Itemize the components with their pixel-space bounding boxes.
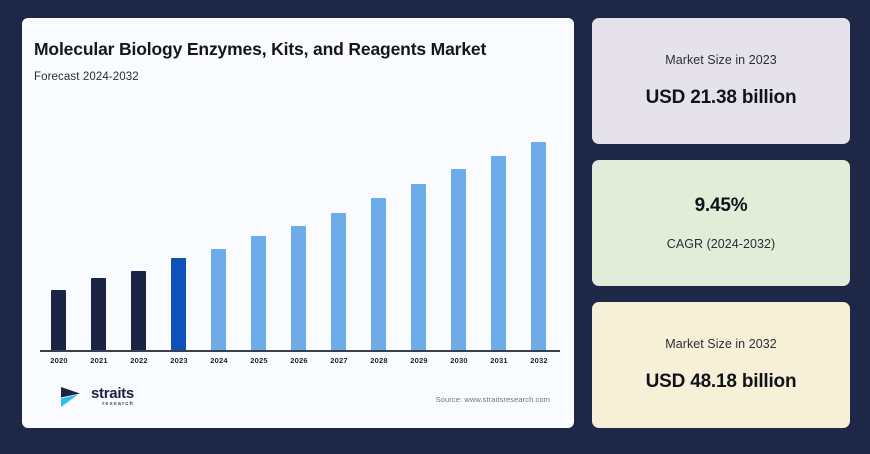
source-note: Source: www.straitsresearch.com [436, 395, 550, 404]
bar-2031[interactable] [491, 156, 506, 349]
bar-slot-2026 [280, 124, 318, 350]
stat-cards-column: Market Size in 2023USD 21.38 billion9.45… [592, 18, 850, 428]
x-axis-line [40, 350, 560, 353]
stat-label-market-size-2032: Market Size in 2032 [665, 337, 776, 351]
bar-2025[interactable] [251, 236, 266, 349]
x-tick-2032: 2032 [520, 356, 558, 365]
stat-value-market-size-2023: USD 21.38 billion [646, 87, 797, 109]
page-title: Molecular Biology Enzymes, Kits, and Rea… [34, 38, 534, 60]
bar-chart-plot [40, 126, 560, 352]
x-tick-2025: 2025 [240, 356, 278, 365]
x-tick-2023: 2023 [160, 356, 198, 365]
logo-tagline: research [91, 402, 134, 408]
x-tick-2026: 2026 [280, 356, 318, 365]
x-tick-2028: 2028 [360, 356, 398, 365]
bar-2024[interactable] [211, 249, 226, 350]
stat-label-market-size-2023: Market Size in 2023 [665, 53, 776, 67]
x-tick-2029: 2029 [400, 356, 438, 365]
bar-slot-2031 [480, 124, 518, 350]
stat-card-market-size-2032: Market Size in 2032USD 48.18 billion [592, 302, 850, 428]
stat-value-cagr: 9.45% [695, 195, 748, 217]
bar-2023[interactable] [171, 258, 186, 350]
bar-2027[interactable] [331, 213, 346, 350]
bar-2030[interactable] [451, 169, 466, 350]
chart-header: Molecular Biology Enzymes, Kits, and Rea… [34, 38, 534, 83]
bar-2026[interactable] [291, 226, 306, 349]
bar-slot-2025 [240, 124, 278, 350]
x-tick-2020: 2020 [40, 356, 78, 365]
bar-2022[interactable] [131, 271, 146, 350]
chart-subtitle: Forecast 2024-2032 [34, 71, 534, 83]
x-tick-2027: 2027 [320, 356, 358, 365]
bar-slot-2029 [400, 124, 438, 350]
bar-slot-2021 [80, 124, 118, 350]
bar-2029[interactable] [411, 184, 426, 350]
infographic-root: Molecular Biology Enzymes, Kits, and Rea… [0, 0, 870, 454]
straits-arrow-icon [60, 384, 86, 410]
bar-slot-2030 [440, 124, 478, 350]
bar-slot-2022 [120, 124, 158, 350]
bar-2020[interactable] [51, 290, 66, 350]
bar-slot-2020 [40, 124, 78, 350]
bar-2032[interactable] [531, 142, 546, 349]
logo-wordmark: straits research [91, 386, 134, 408]
stat-card-market-size-2023: Market Size in 2023USD 21.38 billion [592, 18, 850, 144]
bar-2028[interactable] [371, 198, 386, 349]
bar-slot-2023 [160, 124, 198, 350]
x-tick-2030: 2030 [440, 356, 478, 365]
stat-value-market-size-2032: USD 48.18 billion [646, 371, 797, 393]
bar-slot-2027 [320, 124, 358, 350]
x-tick-2022: 2022 [120, 356, 158, 365]
logo-name: straits [91, 386, 134, 401]
bar-slot-2028 [360, 124, 398, 350]
straits-research-logo: straits research [60, 384, 134, 410]
stat-card-cagr: 9.45%CAGR (2024-2032) [592, 160, 850, 286]
chart-panel: Molecular Biology Enzymes, Kits, and Rea… [22, 18, 574, 428]
x-tick-2031: 2031 [480, 356, 518, 365]
bar-2021[interactable] [91, 278, 106, 349]
bar-slot-2024 [200, 124, 238, 350]
stat-label-cagr: CAGR (2024-2032) [667, 237, 776, 251]
bar-slot-2032 [520, 124, 558, 350]
chart-footer: straits research Source: www.straitsrese… [22, 368, 574, 428]
x-tick-2021: 2021 [80, 356, 118, 365]
x-tick-2024: 2024 [200, 356, 238, 365]
